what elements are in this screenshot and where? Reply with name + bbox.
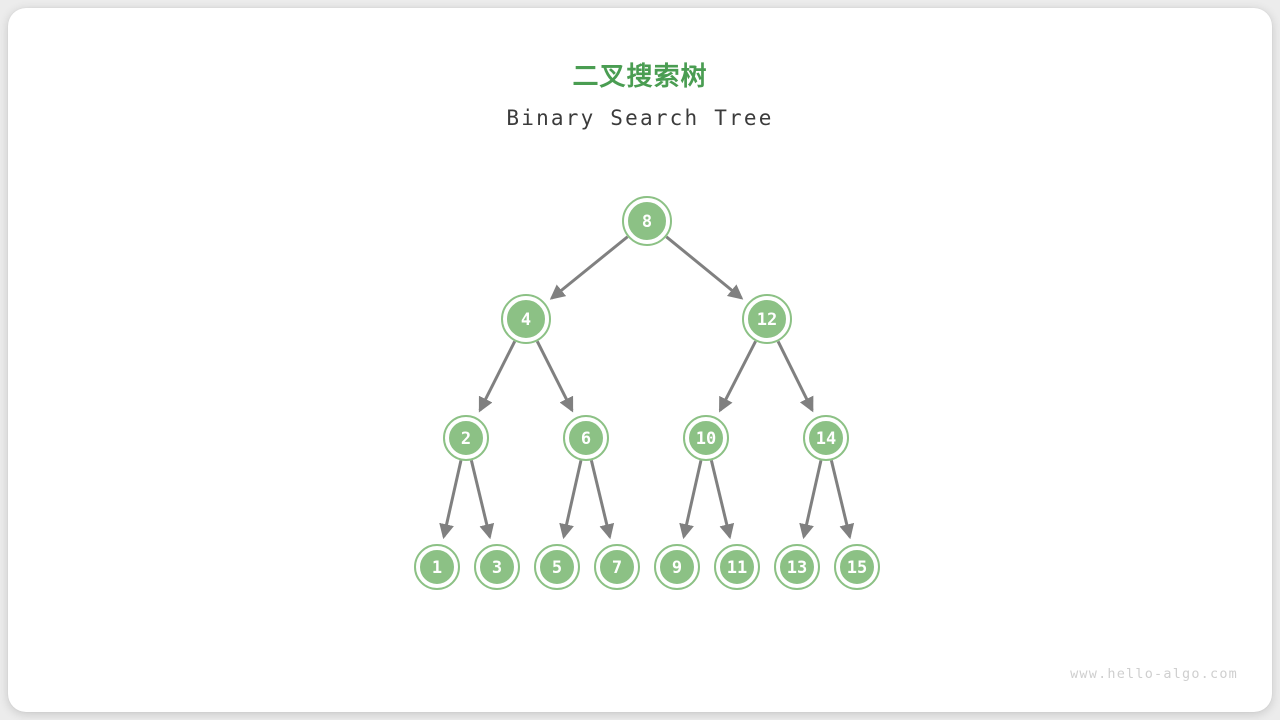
node-value-label: 10 (696, 429, 716, 449)
tree-node-11[interactable]: 11 (715, 545, 759, 589)
node-value-label: 4 (521, 310, 531, 330)
node-value-label: 8 (642, 212, 652, 232)
node-value-label: 9 (672, 558, 682, 578)
tree-node-15[interactable]: 15 (835, 545, 879, 589)
tree-node-14[interactable]: 14 (804, 416, 848, 460)
node-value-label: 14 (816, 429, 836, 449)
node-value-label: 5 (552, 558, 562, 578)
node-value-label: 7 (612, 558, 622, 578)
node-value-label: 11 (727, 558, 747, 578)
tree-edge-4-to-2 (480, 341, 515, 410)
tree-edge-14-to-15 (831, 460, 849, 536)
node-value-label: 12 (757, 310, 777, 330)
tree-edge-8-to-4 (552, 237, 628, 298)
tree-edge-8-to-12 (666, 237, 741, 298)
node-value-label: 2 (461, 429, 471, 449)
tree-edge-14-to-13 (804, 460, 821, 536)
tree-node-1[interactable]: 1 (415, 545, 459, 589)
tree-edge-4-to-6 (537, 341, 572, 410)
tree-edge-6-to-5 (564, 460, 581, 536)
tree-nodes: 841226101413579111315 (415, 197, 879, 589)
tree-node-3[interactable]: 3 (475, 545, 519, 589)
tree-edge-12-to-10 (720, 341, 755, 410)
tree-node-7[interactable]: 7 (595, 545, 639, 589)
tree-edges (444, 237, 850, 537)
tree-node-4[interactable]: 4 (502, 295, 550, 343)
node-value-label: 6 (581, 429, 591, 449)
tree-edge-12-to-14 (778, 341, 812, 410)
tree-edge-6-to-7 (591, 460, 609, 536)
node-value-label: 15 (847, 558, 867, 578)
tree-node-6[interactable]: 6 (564, 416, 608, 460)
diagram-card: 二叉搜索树 Binary Search Tree 841226101413579… (8, 8, 1272, 712)
node-value-label: 13 (787, 558, 807, 578)
tree-node-10[interactable]: 10 (684, 416, 728, 460)
tree-edge-2-to-3 (471, 460, 489, 536)
tree-node-2[interactable]: 2 (444, 416, 488, 460)
watermark: www.hello-algo.com (1070, 666, 1238, 682)
tree-node-12[interactable]: 12 (743, 295, 791, 343)
tree-edge-10-to-11 (711, 460, 729, 536)
tree-node-9[interactable]: 9 (655, 545, 699, 589)
binary-search-tree-diagram: 841226101413579111315 (8, 8, 1272, 712)
tree-node-5[interactable]: 5 (535, 545, 579, 589)
tree-edge-2-to-1 (444, 460, 461, 536)
node-value-label: 3 (492, 558, 502, 578)
tree-edge-10-to-9 (684, 460, 701, 536)
node-value-label: 1 (432, 558, 442, 578)
tree-node-8[interactable]: 8 (623, 197, 671, 245)
tree-node-13[interactable]: 13 (775, 545, 819, 589)
